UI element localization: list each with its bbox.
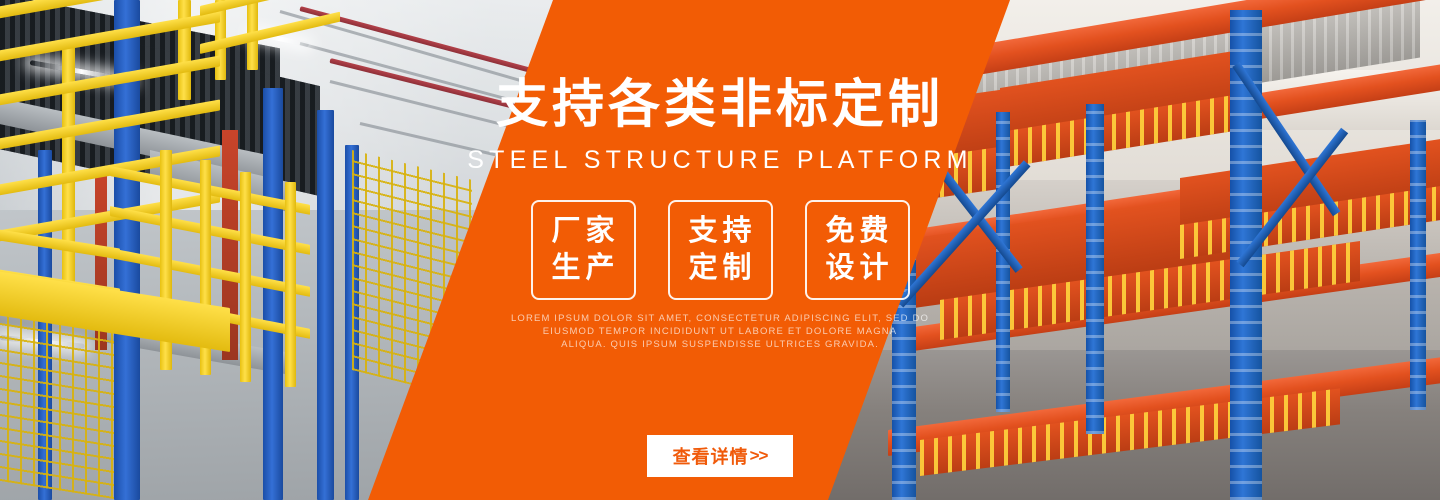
description-paragraph: LOREM IPSUM DOLOR SIT AMET, CONSECTETUR … [420, 312, 1020, 351]
description-line-2: EIUSMOD TEMPOR INCIDIDUNT UT LABORE ET D… [420, 325, 1020, 338]
page-title: 支持各类非标定制 [440, 76, 1000, 134]
double-chevron-right-icon: >> [750, 446, 768, 466]
badge-line-2: 定制 [683, 250, 756, 287]
promo-banner: 支持各类非标定制 STEEL STRUCTURE PLATFORM 厂家 生产 … [0, 0, 1440, 500]
feature-badge-manufacturer: 厂家 生产 [531, 200, 636, 300]
badge-line-1: 支持 [683, 213, 756, 250]
cta-label: 查看详情 [673, 443, 749, 469]
badge-line-1: 免费 [820, 213, 893, 250]
banner-content: 支持各类非标定制 STEEL STRUCTURE PLATFORM 厂家 生产 … [0, 0, 1440, 500]
description-line-3: ALIQUA. QUIS IPSUM SUSPENDISSE ULTRICES … [420, 338, 1020, 351]
feature-badge-customization: 支持 定制 [668, 200, 773, 300]
view-details-button[interactable]: 查看详情>> [647, 435, 793, 477]
badge-line-1: 厂家 [546, 213, 619, 250]
subtitle: STEEL STRUCTURE PLATFORM [440, 145, 1000, 175]
feature-badge-free-design: 免费 设计 [805, 200, 910, 300]
description-line-1: LOREM IPSUM DOLOR SIT AMET, CONSECTETUR … [420, 312, 1020, 325]
badge-line-2: 设计 [820, 250, 893, 287]
feature-badge-list: 厂家 生产 支持 定制 免费 设计 [440, 200, 1000, 300]
cta-container: 查看详情>> [440, 435, 1000, 477]
badge-line-2: 生产 [546, 250, 619, 287]
